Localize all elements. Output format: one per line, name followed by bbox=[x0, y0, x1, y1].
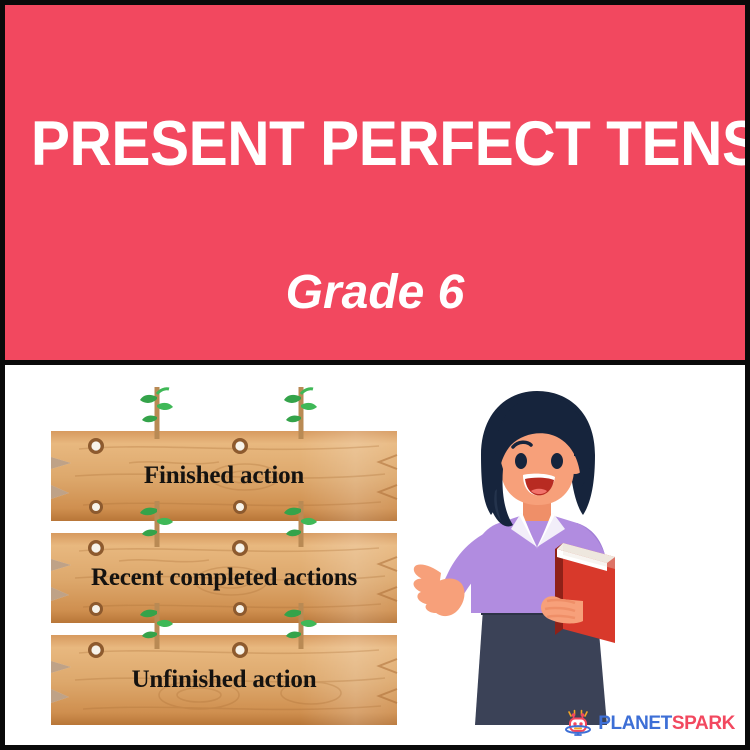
teacher-illustration bbox=[411, 387, 661, 732]
grade-subtitle: Grade 6 bbox=[5, 269, 745, 317]
logo-word-spark: SPARK bbox=[672, 713, 735, 734]
sign-label: Unfinished action bbox=[49, 633, 399, 727]
slide: PRESENT PERFECT TENSE Grade 6 bbox=[0, 0, 750, 750]
planetspark-logo: PLANETSPARK bbox=[564, 709, 735, 737]
planetspark-robot-icon bbox=[564, 709, 592, 737]
wooden-sign-group: Finished action bbox=[49, 383, 399, 731]
sign-label: Recent completed actions bbox=[49, 531, 399, 625]
header-banner: PRESENT PERFECT TENSE Grade 6 bbox=[5, 5, 745, 365]
wooden-sign: Unfinished action bbox=[49, 633, 399, 727]
wooden-sign: Recent completed actions bbox=[49, 531, 399, 625]
wooden-sign: Finished action bbox=[49, 429, 399, 523]
logo-word-planet: PLANET bbox=[598, 713, 672, 734]
content-area: Finished action bbox=[5, 365, 745, 745]
page-title: PRESENT PERFECT TENSE bbox=[31, 113, 719, 176]
logo-wordmark: PLANETSPARK bbox=[598, 714, 735, 733]
sign-label: Finished action bbox=[49, 429, 399, 523]
